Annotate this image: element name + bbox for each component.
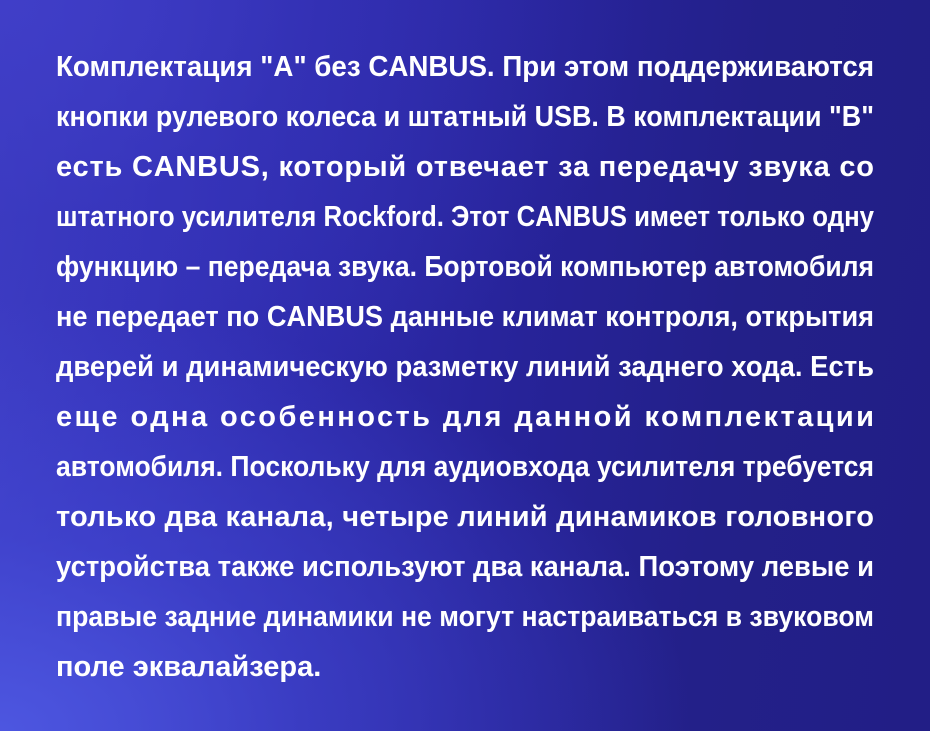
text-line: есть CANBUS, который отвечает за передач…	[56, 142, 874, 192]
text-line: штатного усилителя Rockford. Этот CANBUS…	[56, 192, 874, 242]
text-line-content: поле эквалайзера.	[56, 642, 321, 692]
text-line-content: только два канала, четыре линий динамико…	[56, 492, 874, 542]
text-line-content: есть CANBUS, который отвечает за передач…	[56, 142, 875, 192]
text-line-content: дверей и динамическую разметку линий зад…	[56, 342, 874, 392]
body-paragraph: Комплектация "A" без CANBUS. При этом по…	[56, 42, 874, 692]
text-line: еще одна особенность для данной комплект…	[56, 392, 874, 442]
text-line: правые задние динамики не могут настраив…	[56, 592, 874, 642]
text-line: только два канала, четыре линий динамико…	[56, 492, 874, 542]
text-line-content: правые задние динамики не могут настраив…	[56, 592, 874, 642]
text-line: автомобиля. Поскольку для аудиовхода уси…	[56, 442, 874, 492]
text-line-content: штатного усилителя Rockford. Этот CANBUS…	[56, 192, 874, 242]
text-line-content: автомобиля. Поскольку для аудиовхода уси…	[56, 442, 874, 492]
text-line-content: кнопки рулевого колеса и штатный USB. В …	[56, 92, 874, 142]
text-slide: Комплектация "A" без CANBUS. При этом по…	[0, 0, 930, 731]
text-line: кнопки рулевого колеса и штатный USB. В …	[56, 92, 874, 142]
text-line: функцию – передача звука. Бортовой компь…	[56, 242, 874, 292]
text-line-content: устройства также используют два канала. …	[56, 542, 874, 592]
text-line: дверей и динамическую разметку линий зад…	[56, 342, 874, 392]
text-line: не передает по CANBUS данные климат конт…	[56, 292, 874, 342]
text-line-content: функцию – передача звука. Бортовой компь…	[56, 242, 874, 292]
text-line: поле эквалайзера.	[56, 642, 874, 692]
text-line: Комплектация "A" без CANBUS. При этом по…	[56, 42, 874, 92]
text-line-content: еще одна особенность для данной комплект…	[56, 392, 876, 442]
text-line-content: не передает по CANBUS данные климат конт…	[56, 292, 874, 342]
text-line-content: Комплектация "A" без CANBUS. При этом по…	[56, 42, 874, 92]
text-line: устройства также используют два канала. …	[56, 542, 874, 592]
